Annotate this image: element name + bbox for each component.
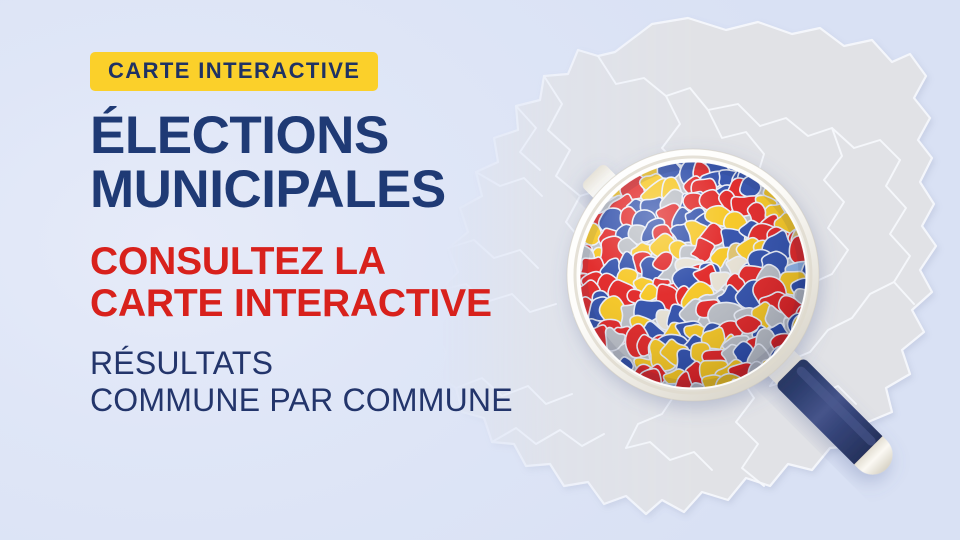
results-line-2: COMMUNE PAR COMMUNE bbox=[90, 382, 560, 419]
commune-shape bbox=[693, 161, 710, 184]
commune-shape bbox=[582, 325, 608, 355]
commune-shape bbox=[655, 334, 691, 363]
commune-shape bbox=[667, 304, 692, 329]
commune-shape bbox=[608, 280, 636, 310]
commune-shape bbox=[634, 300, 666, 326]
cta-line-1: CONSULTEZ LA bbox=[90, 241, 560, 283]
commune-shape bbox=[680, 159, 705, 185]
commune-shape bbox=[708, 302, 745, 327]
commune-shape bbox=[632, 210, 656, 230]
commune-shape bbox=[634, 358, 656, 378]
commune-shape bbox=[697, 153, 723, 174]
commune-shape bbox=[620, 171, 645, 199]
commune-shape bbox=[640, 197, 667, 227]
commune-shape bbox=[691, 178, 720, 207]
commune-shape bbox=[710, 185, 738, 210]
commune-shape bbox=[715, 359, 747, 390]
commune-shape bbox=[774, 343, 805, 369]
commune-shape bbox=[618, 238, 638, 258]
commune-shape bbox=[793, 295, 809, 316]
commune-shape bbox=[581, 223, 601, 245]
commune-shape bbox=[679, 299, 703, 325]
commune-shape bbox=[666, 277, 691, 298]
commune-shape bbox=[583, 351, 607, 374]
commune-shape bbox=[657, 157, 681, 180]
commune-shape bbox=[685, 208, 707, 230]
commune-shape bbox=[636, 369, 661, 402]
magnifier-handle bbox=[581, 163, 636, 218]
commune-shape bbox=[779, 271, 806, 295]
commune-shape bbox=[576, 257, 605, 287]
commune-shape bbox=[609, 162, 634, 189]
results-subheading: RÉSULTATS COMMUNE PAR COMMUNE bbox=[90, 345, 560, 419]
commune-shape bbox=[810, 240, 839, 268]
commune-shape bbox=[637, 161, 661, 193]
commune-shape bbox=[597, 273, 626, 299]
poster-canvas: CARTE INTERACTIVE ÉLECTIONS MUNICIPALES … bbox=[0, 0, 960, 540]
commune-shape bbox=[738, 160, 770, 186]
commune-shape bbox=[653, 252, 673, 271]
commune-shape bbox=[733, 341, 753, 366]
commune-shape bbox=[729, 379, 756, 405]
commune-shape bbox=[726, 256, 747, 279]
commune-shape bbox=[627, 167, 649, 187]
lens-glass-sheen bbox=[580, 162, 806, 388]
commune-shape bbox=[748, 202, 767, 229]
commune-shape bbox=[739, 266, 771, 295]
commune-shape bbox=[770, 334, 795, 359]
commune-shape bbox=[705, 206, 734, 226]
commune-shape bbox=[652, 278, 670, 295]
commune-shape bbox=[685, 361, 713, 389]
commune-shape bbox=[661, 137, 678, 151]
commune-shape bbox=[626, 199, 647, 220]
commune-shape bbox=[767, 227, 799, 260]
commune-shape bbox=[679, 335, 711, 362]
commune-shape bbox=[636, 321, 667, 351]
commune-shape bbox=[748, 361, 764, 379]
commune-shape bbox=[719, 170, 744, 188]
commune-shape bbox=[791, 208, 813, 233]
commune-shape bbox=[566, 244, 594, 278]
commune-shape bbox=[656, 284, 679, 312]
commune-shape bbox=[690, 127, 719, 159]
commune-shape bbox=[600, 236, 626, 265]
commune-shape bbox=[723, 178, 753, 210]
commune-shape bbox=[794, 289, 817, 310]
commune-shape bbox=[622, 142, 647, 167]
lens-result-map bbox=[552, 127, 839, 413]
commune-shape bbox=[717, 285, 741, 314]
commune-shape bbox=[684, 324, 707, 345]
commune-shape bbox=[588, 297, 615, 327]
cta-line-2: CARTE INTERACTIVE bbox=[90, 283, 560, 325]
commune-shape bbox=[641, 218, 664, 242]
commune-shape bbox=[788, 228, 814, 255]
commune-shape bbox=[699, 190, 726, 214]
commune-shape bbox=[769, 346, 802, 375]
commune-shape bbox=[672, 207, 696, 235]
commune-shape bbox=[700, 360, 728, 384]
commune-shape bbox=[732, 162, 760, 188]
commune-shape bbox=[716, 374, 746, 404]
commune-shape bbox=[606, 327, 626, 351]
commune-shape bbox=[660, 189, 690, 217]
commune-shape bbox=[627, 289, 646, 305]
commune-shape bbox=[599, 296, 625, 329]
commune-shape bbox=[702, 375, 733, 402]
commune-shape bbox=[604, 366, 624, 389]
commune-shape bbox=[574, 221, 598, 245]
commune-shape bbox=[676, 286, 695, 306]
commune-shape bbox=[598, 228, 618, 251]
commune-shape bbox=[599, 208, 627, 239]
commune-shape bbox=[663, 322, 691, 344]
commune-shape bbox=[625, 324, 651, 358]
commune-shape bbox=[702, 349, 730, 369]
commune-shape bbox=[752, 326, 774, 345]
commune-shape bbox=[722, 336, 749, 355]
commune-shape bbox=[654, 149, 685, 181]
commune-shape bbox=[700, 263, 721, 279]
commune-shape bbox=[752, 302, 775, 330]
commune-shape bbox=[789, 236, 816, 266]
commune-shape bbox=[564, 325, 600, 361]
commune-shape bbox=[728, 363, 757, 389]
commune-shape bbox=[739, 220, 765, 240]
commune-shape bbox=[701, 327, 725, 349]
commune-shape bbox=[765, 305, 786, 330]
commune-shape bbox=[641, 178, 675, 209]
commune-shape bbox=[580, 319, 608, 349]
commune-shape bbox=[576, 280, 601, 306]
commune-shape bbox=[675, 321, 703, 348]
commune-shape bbox=[767, 323, 789, 341]
commune-shape bbox=[640, 257, 663, 283]
commune-shape bbox=[613, 326, 635, 346]
commune-shape bbox=[685, 221, 710, 247]
commune-shape bbox=[660, 339, 689, 365]
commune-shape bbox=[592, 319, 624, 351]
commune-shape bbox=[796, 304, 818, 323]
commune-shape bbox=[779, 296, 809, 320]
commune-shape bbox=[736, 238, 765, 269]
commune-shape bbox=[633, 277, 654, 296]
commune-shape bbox=[748, 250, 773, 279]
commune-shape bbox=[672, 143, 699, 165]
commune-shape bbox=[698, 223, 724, 246]
commune-shape bbox=[722, 345, 746, 371]
commune-shape bbox=[633, 252, 653, 274]
commune-shape bbox=[672, 267, 706, 294]
commune-shape bbox=[800, 259, 823, 285]
commune-shape bbox=[649, 335, 674, 365]
commune-shape bbox=[583, 210, 611, 243]
results-line-1: RÉSULTATS bbox=[90, 345, 560, 382]
commune-shape bbox=[700, 171, 723, 187]
commune-shape bbox=[739, 262, 764, 289]
commune-shape bbox=[774, 213, 796, 233]
commune-shape bbox=[683, 193, 710, 211]
commune-shape bbox=[696, 300, 719, 318]
commune-shape bbox=[731, 196, 764, 217]
commune-shape bbox=[632, 364, 653, 387]
commune-shape bbox=[721, 228, 745, 252]
commune-shape bbox=[762, 163, 790, 195]
commune-shape bbox=[755, 328, 780, 365]
commune-shape bbox=[791, 278, 816, 299]
carte-interactive-badge[interactable]: CARTE INTERACTIVE bbox=[90, 52, 378, 91]
commune-shape bbox=[613, 371, 642, 393]
commune-shape bbox=[746, 335, 774, 362]
commune-shape bbox=[719, 190, 739, 213]
commune-shape bbox=[652, 225, 673, 244]
commune-shape bbox=[628, 225, 650, 245]
commune-shape bbox=[620, 207, 639, 228]
page-title: ÉLECTIONS MUNICIPALES bbox=[90, 109, 560, 217]
commune-shape bbox=[734, 308, 758, 328]
commune-shape bbox=[680, 192, 703, 214]
commune-shape bbox=[795, 197, 817, 227]
commune-shape bbox=[599, 195, 625, 219]
lens-rim bbox=[567, 149, 819, 401]
commune-shape bbox=[792, 314, 821, 346]
commune-shape bbox=[598, 350, 617, 376]
headline-block: CARTE INTERACTIVE ÉLECTIONS MUNICIPALES … bbox=[90, 52, 560, 420]
commune-shape bbox=[572, 274, 590, 292]
commune-shape bbox=[787, 313, 809, 337]
commune-shape bbox=[600, 258, 622, 284]
commune-shape bbox=[728, 243, 748, 269]
commune-shape bbox=[619, 252, 637, 278]
commune-shape bbox=[592, 291, 615, 317]
commune-shape bbox=[697, 290, 728, 319]
commune-shape bbox=[670, 222, 693, 244]
commune-shape bbox=[710, 247, 731, 268]
commune-shape bbox=[726, 273, 746, 297]
commune-shape bbox=[740, 175, 761, 197]
commune-shape bbox=[570, 292, 592, 315]
commune-shape bbox=[754, 240, 779, 260]
commune-shape bbox=[756, 265, 781, 292]
commune-shape bbox=[564, 296, 584, 324]
commune-shape bbox=[575, 186, 608, 214]
commune-shape bbox=[704, 150, 732, 176]
commune-shape bbox=[640, 284, 659, 302]
commune-shape bbox=[638, 388, 652, 405]
commune-shape bbox=[681, 282, 714, 319]
commune-shape bbox=[614, 224, 636, 250]
commune-shape bbox=[759, 292, 792, 319]
commune-shape bbox=[673, 371, 693, 394]
commune-shape bbox=[727, 153, 751, 175]
commune-shape bbox=[564, 320, 587, 347]
commune-shape bbox=[573, 243, 593, 265]
commune-shape bbox=[640, 174, 667, 197]
commune-shape bbox=[584, 212, 600, 232]
commune-shape bbox=[591, 161, 619, 185]
commune-shape bbox=[810, 268, 829, 289]
commune-shape bbox=[748, 224, 779, 249]
commune-shape bbox=[650, 233, 679, 258]
commune-shape bbox=[663, 369, 688, 387]
commune-shape bbox=[780, 183, 798, 210]
commune-shape bbox=[672, 128, 699, 156]
commune-shape bbox=[685, 148, 713, 181]
commune-shape bbox=[577, 297, 594, 320]
commune-shape bbox=[703, 323, 738, 346]
commune-shape bbox=[680, 245, 703, 265]
commune-shape bbox=[759, 214, 780, 242]
commune-shape bbox=[630, 315, 659, 343]
commune-shape bbox=[655, 384, 684, 413]
commune-shape bbox=[791, 223, 824, 250]
commune-shape bbox=[710, 272, 730, 291]
commune-shape bbox=[720, 334, 740, 357]
handle-assembly bbox=[752, 334, 900, 482]
commune-shape bbox=[617, 268, 638, 291]
commune-shape bbox=[762, 230, 796, 264]
commune-shape bbox=[669, 240, 690, 259]
commune-shape bbox=[637, 335, 660, 357]
page-title-line-1: ÉLECTIONS bbox=[90, 109, 560, 163]
commune-shape bbox=[691, 238, 715, 263]
commune-shape bbox=[608, 194, 640, 226]
commune-shape bbox=[644, 364, 667, 385]
commune-shape bbox=[621, 303, 648, 331]
commune-shape bbox=[691, 342, 710, 366]
commune-shape bbox=[676, 349, 699, 375]
magnifier bbox=[552, 127, 901, 483]
commune-shape bbox=[780, 192, 801, 218]
commune-shape bbox=[755, 195, 777, 215]
commune-shape bbox=[718, 321, 742, 342]
commune-shape bbox=[662, 177, 684, 204]
commune-shape bbox=[747, 344, 770, 372]
commune-shape bbox=[656, 310, 679, 330]
commune-shape bbox=[683, 176, 713, 202]
commune-shape bbox=[763, 176, 791, 201]
commune-shape bbox=[586, 175, 602, 193]
commune-shape bbox=[764, 204, 788, 222]
commune-shape bbox=[736, 315, 762, 333]
commune-shape bbox=[759, 251, 787, 282]
call-to-action-heading: CONSULTEZ LA CARTE INTERACTIVE bbox=[90, 241, 560, 325]
commune-shape bbox=[649, 339, 678, 371]
commune-shape bbox=[686, 264, 710, 284]
commune-shape bbox=[785, 261, 813, 278]
commune-shape bbox=[724, 212, 749, 241]
commune-shape bbox=[689, 383, 709, 406]
commune-shape bbox=[753, 374, 775, 403]
commune-shape bbox=[736, 280, 768, 309]
commune-shape bbox=[762, 355, 795, 381]
commune-shape bbox=[656, 203, 680, 232]
commune-shape bbox=[753, 276, 786, 313]
commune-shape bbox=[631, 243, 653, 264]
commune-shape bbox=[790, 334, 813, 358]
commune-shape bbox=[592, 247, 616, 269]
commune-shape bbox=[639, 144, 658, 161]
commune-shape bbox=[802, 306, 824, 330]
commune-shape bbox=[693, 264, 718, 285]
commune-shape bbox=[597, 178, 622, 198]
commune-shape bbox=[581, 272, 604, 295]
commune-shape bbox=[617, 357, 633, 378]
commune-shape bbox=[690, 212, 719, 238]
commune-shape bbox=[801, 210, 831, 237]
commune-shape bbox=[675, 258, 704, 285]
page-title-line-2: MUNICIPALES bbox=[90, 163, 560, 217]
commune-shape bbox=[558, 266, 588, 300]
